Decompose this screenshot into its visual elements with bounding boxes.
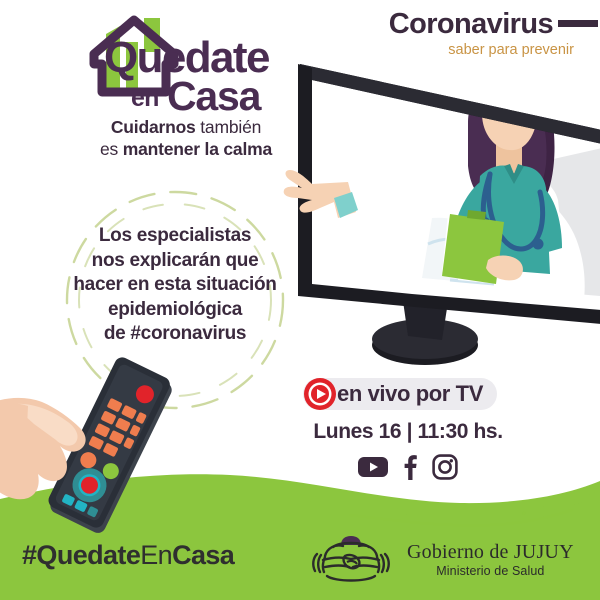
play-circle-icon[interactable]: [303, 377, 337, 411]
title-dash-rule: [558, 20, 598, 27]
logo-wordmark: Quedate en Casa: [104, 28, 286, 114]
jujuy-handshake-emblem-icon: [305, 534, 397, 586]
message-line: de #coronavirus: [55, 322, 295, 347]
message-line: hacer en esta situación: [55, 273, 295, 298]
tagline-line-1: Cuidarnos también: [86, 116, 286, 138]
waving-hand: [284, 170, 358, 218]
hand-holding-icon: [0, 352, 204, 552]
government-text: Gobierno de JUJUY Ministerio de Salud: [407, 542, 574, 578]
government-department: Ministerio de Salud: [407, 565, 574, 578]
logo-line2-small-text: en: [131, 84, 159, 112]
facebook-icon[interactable]: [402, 454, 418, 485]
government-name: Gobierno de JUJUY: [407, 542, 574, 562]
live-broadcast-row: en vivo por TV: [303, 376, 513, 412]
social-links: [293, 452, 523, 486]
tv-monitor-icon: [282, 48, 600, 378]
page-title: Coronavirus: [389, 8, 553, 40]
tagline-rest-2: es: [100, 139, 123, 159]
hashtag-part-1: #Quedate: [22, 540, 140, 570]
logo-line2-big-text: Casa: [167, 73, 263, 114]
poster-canvas: Quedate en Casa Cuidarnos también es man…: [0, 0, 600, 600]
broadcast-schedule: Lunes 16 | 11:30 hs.: [293, 420, 523, 444]
tagline-bold-1: Cuidarnos: [111, 117, 196, 137]
message-line: Los especialistas: [55, 224, 295, 249]
brand-logo: Quedate en Casa Cuidarnos también es man…: [86, 12, 286, 172]
live-label: en vivo por TV: [337, 381, 483, 407]
hashtag-part-2: En: [140, 540, 172, 570]
main-message: Los especialistas nos explicarán que hac…: [55, 224, 295, 347]
tagline-rest-1: también: [196, 117, 262, 137]
footer-hashtag: #QuedateEnCasa: [22, 540, 234, 571]
tagline-line-2: es mantener la calma: [86, 138, 286, 160]
government-logo: Gobierno de JUJUY Ministerio de Salud: [305, 532, 565, 588]
coronavirus-title-wrap: Coronavirus: [340, 8, 600, 40]
hashtag-part-3: Casa: [172, 540, 234, 570]
brand-tagline: Cuidarnos también es mantener la calma: [86, 116, 286, 160]
message-line: nos explicarán que: [55, 249, 295, 274]
youtube-icon[interactable]: [358, 456, 388, 483]
message-line: epidemiológica: [55, 298, 295, 323]
instagram-icon[interactable]: [432, 454, 458, 485]
tagline-bold-2: mantener la calma: [123, 139, 272, 159]
